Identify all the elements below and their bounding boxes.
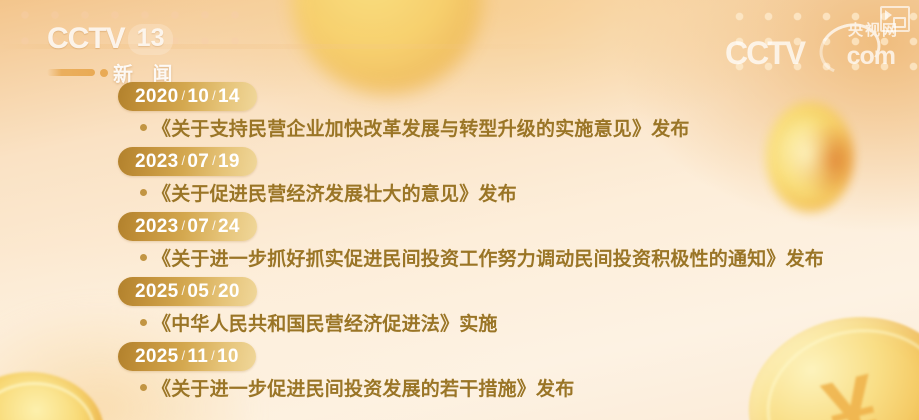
channel-logo: CCTV 13 新 闻	[47, 22, 197, 80]
date-year: 2025	[135, 281, 178, 303]
date-separator: /	[211, 348, 215, 363]
channel-dot-decoration	[100, 69, 108, 77]
date-separator: /	[181, 283, 185, 298]
timeline-entry-text: 《关于进一步促进民间投资发展的若干措施》发布	[152, 374, 574, 401]
date-year: 2023	[135, 151, 178, 173]
date-separator: /	[181, 88, 185, 103]
date-day: 19	[218, 151, 240, 173]
date-month: 11	[187, 346, 208, 368]
channel-logo-main: CCTV 13	[47, 22, 197, 56]
list-item: 2023 / 07 / 24 《关于进一步抓好抓实促进民间投资工作努力调动民间投…	[0, 212, 919, 271]
timeline-entry: 《关于进一步促进民间投资发展的若干措施》发布	[140, 374, 919, 401]
dot-pattern-left	[10, 2, 240, 62]
picture-in-picture-icon	[880, 6, 910, 32]
list-item: 2025 / 11 / 10 《关于进一步促进民间投资发展的若干措施》发布	[0, 342, 919, 401]
date-separator: /	[212, 283, 216, 298]
channel-logo-letters: CCTV	[47, 22, 125, 56]
watermark-swoosh-icon	[813, 16, 887, 83]
date-year: 2020	[135, 86, 178, 108]
date-day: 20	[218, 281, 240, 303]
date-separator: /	[181, 153, 185, 168]
bullet-icon	[140, 254, 147, 261]
date-separator: /	[181, 218, 185, 233]
list-item: 2023 / 07 / 19 《关于促进民营经济发展壮大的意见》发布	[0, 147, 919, 206]
watermark-cctv-text: CCTV	[725, 35, 804, 72]
date-badge: 2023 / 07 / 19	[118, 147, 257, 176]
bullet-icon	[140, 319, 147, 326]
timeline-entry: 《关于促进民营经济发展壮大的意见》发布	[140, 179, 919, 206]
timeline-entry: 《关于支持民营企业加快改革发展与转型升级的实施意见》发布	[140, 114, 919, 141]
timeline-entry-text: 《中华人民共和国民营经济促进法》实施	[152, 309, 498, 336]
date-separator: /	[212, 218, 216, 233]
channel-bar-decoration	[47, 69, 95, 76]
date-badge: 2025 / 11 / 10	[118, 342, 256, 371]
timeline-entry: 《关于进一步抓好抓实促进民间投资工作努力调动民间投资积极性的通知》发布	[140, 244, 919, 271]
date-badge: 2020 / 10 / 14	[118, 82, 257, 111]
date-month: 07	[187, 151, 209, 173]
timeline-entry-text: 《关于进一步抓好抓实促进民间投资工作努力调动民间投资积极性的通知》发布	[152, 244, 824, 271]
policy-timeline-list: 2020 / 10 / 14 《关于支持民营企业加快改革发展与转型升级的实施意见…	[0, 82, 919, 407]
date-separator: /	[212, 153, 216, 168]
timeline-entry-text: 《关于促进民营经济发展壮大的意见》发布	[152, 179, 517, 206]
list-item: 2020 / 10 / 14 《关于支持民营企业加快改革发展与转型升级的实施意见…	[0, 82, 919, 141]
timeline-entry: 《中华人民共和国民营经济促进法》实施	[140, 309, 919, 336]
date-badge: 2023 / 07 / 24	[118, 212, 257, 241]
bullet-icon	[140, 124, 147, 131]
date-month: 10	[187, 86, 209, 108]
date-separator: /	[212, 88, 216, 103]
date-year: 2025	[135, 346, 178, 368]
timeline-entry-text: 《关于支持民营企业加快改革发展与转型升级的实施意见》发布	[152, 114, 690, 141]
date-day: 10	[217, 346, 239, 368]
list-item: 2025 / 05 / 20 《中华人民共和国民营经济促进法》实施	[0, 277, 919, 336]
date-badge: 2025 / 05 / 20	[118, 277, 257, 306]
bullet-icon	[140, 189, 147, 196]
date-month: 05	[187, 281, 209, 303]
date-month: 07	[187, 216, 209, 238]
logo-underline	[0, 44, 919, 49]
date-year: 2023	[135, 216, 178, 238]
broadcast-frame: ¥ CCTV 13 新 闻 央视网 CCTV com 2020 / 10	[0, 0, 919, 420]
channel-number: 13	[128, 24, 174, 55]
date-separator: /	[181, 348, 185, 363]
bullet-icon	[140, 384, 147, 391]
date-day: 14	[218, 86, 240, 108]
date-day: 24	[218, 216, 240, 238]
